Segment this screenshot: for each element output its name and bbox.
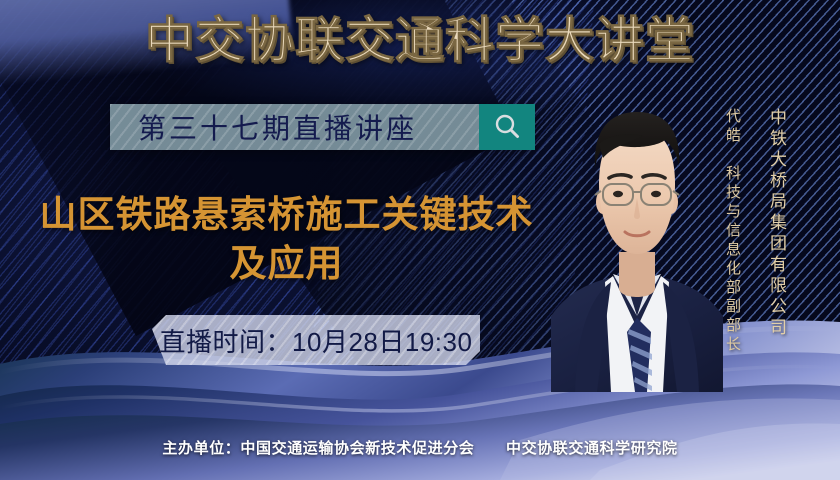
lecture-title-line-1: 山区铁路悬索桥施工关键技术 (40, 194, 534, 235)
poster-canvas: 中交协联交通科学大讲堂 第三十七期直播讲座 山区铁路悬索桥施工关键技术 及应用 … (0, 0, 840, 480)
lecture-title-line-2: 及应用 (34, 239, 539, 288)
live-time-text: 直播时间：10月28日19:30 (160, 322, 473, 359)
footer-organizer-primary: 主办单位：中国交通运输协会新技术促进分会 (162, 440, 474, 457)
search-icon (492, 112, 522, 142)
live-time-badge: 直播时间：10月28日19:30 (152, 315, 480, 365)
footer-organizer-secondary: 中交协联交通科学研究院 (506, 440, 678, 457)
episode-badge[interactable]: 第三十七期直播讲座 (110, 104, 535, 150)
speaker-name-title-vertical-text: 代皓 科技与信息化部副部长 (722, 108, 743, 355)
footer-organizers: 主办单位：中国交通运输协会新技术促进分会 中交协联交通科学研究院 (0, 437, 840, 458)
speaker-company-vertical-text: 中铁大桥局集团有限公司 (764, 108, 789, 339)
speaker-photo (551, 92, 723, 392)
lecture-title: 山区铁路悬索桥施工关键技术 及应用 (34, 190, 539, 288)
search-button[interactable] (479, 104, 535, 150)
episode-badge-label: 第三十七期直播讲座 (110, 104, 479, 150)
poster-headline: 中交协联交通科学大讲堂 (0, 16, 840, 65)
